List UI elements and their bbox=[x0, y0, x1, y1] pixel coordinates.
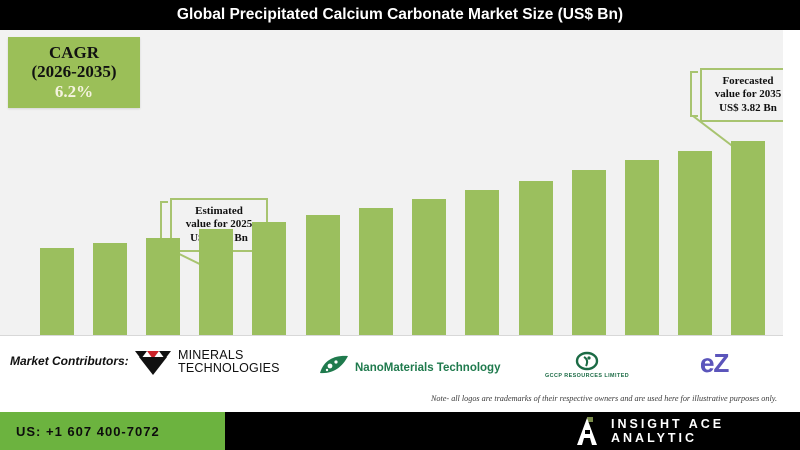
logo-gccp-resources: GCCP RESOURCES LIMITED bbox=[545, 351, 629, 379]
brand-lockup: INSIGHT ACE ANALYTIC bbox=[575, 412, 800, 450]
bar-2025E bbox=[199, 229, 233, 343]
bar-2026F bbox=[252, 222, 286, 343]
insightace-a-icon bbox=[575, 417, 599, 445]
bar-2029F bbox=[412, 199, 446, 343]
bar-2031F bbox=[519, 181, 553, 343]
logo-minerals-technologies: MINERALS TECHNOLOGIES bbox=[133, 347, 280, 377]
logo-ez: eZ bbox=[700, 348, 728, 379]
chart-panel: CAGR (2026-2035) 6.2% Estimated value fo… bbox=[0, 30, 783, 335]
bar-2035F bbox=[731, 141, 765, 343]
bar-2028F bbox=[359, 208, 393, 343]
infographic-root: Global Precipitated Calcium Carbonate Ma… bbox=[0, 0, 800, 450]
minerals-line1: MINERALS bbox=[178, 349, 280, 363]
minerals-triangles-icon bbox=[133, 347, 173, 377]
nanomaterials-leaf-icon bbox=[318, 354, 350, 381]
chart-area: CAGR (2026-2035) 6.2% Estimated value fo… bbox=[0, 30, 783, 335]
phone-number[interactable]: US: +1 607 400-7072 bbox=[16, 424, 160, 439]
bar-2023A bbox=[93, 243, 127, 343]
gccp-circle-icon bbox=[574, 351, 600, 371]
right-margin bbox=[783, 30, 800, 412]
brand-name: INSIGHT ACE ANALYTIC bbox=[611, 417, 800, 445]
bar-2024A bbox=[146, 238, 180, 343]
minerals-line2: TECHNOLOGIES bbox=[178, 362, 280, 376]
phone-chip[interactable]: US: +1 607 400-7072 bbox=[0, 412, 225, 450]
bar-2033F bbox=[625, 160, 659, 343]
nanomaterials-wordmark: NanoMaterials Technology bbox=[355, 362, 500, 374]
bar-2030F bbox=[465, 190, 499, 343]
title-bar: Global Precipitated Calcium Carbonate Ma… bbox=[0, 0, 800, 30]
bar-2034F bbox=[678, 151, 712, 343]
footer-bar: US: +1 607 400-7072 INSIGHT ACE ANALYTIC bbox=[0, 412, 800, 450]
bar-series bbox=[0, 30, 783, 343]
ez-wordmark: eZ bbox=[700, 348, 728, 379]
trademark-note: Note- all logos are trademarks of their … bbox=[431, 394, 777, 403]
minerals-technologies-wordmark: MINERALS TECHNOLOGIES bbox=[178, 349, 280, 376]
page-title: Global Precipitated Calcium Carbonate Ma… bbox=[177, 6, 623, 24]
contributors-label: Market Contributors: bbox=[10, 354, 129, 368]
bar-2027F bbox=[306, 215, 340, 343]
bar-2032F bbox=[572, 170, 606, 343]
logo-nanomaterials-technology: NanoMaterials Technology bbox=[318, 354, 500, 381]
gccp-wordmark: GCCP RESOURCES LIMITED bbox=[545, 373, 629, 379]
bar-2022A bbox=[40, 248, 74, 343]
market-contributors-strip: Market Contributors: MINERALS TECHNOLOGI… bbox=[0, 335, 783, 412]
